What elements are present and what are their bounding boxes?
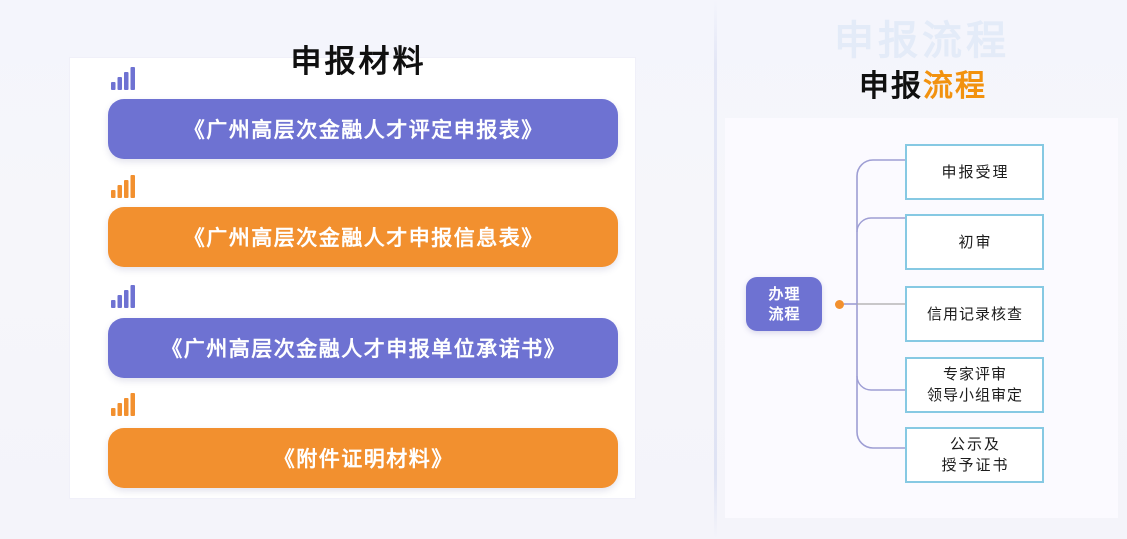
document-pill[interactable]: 《附件证明材料》 bbox=[108, 428, 618, 488]
page-title-materials: 申报材料 bbox=[0, 36, 714, 81]
process-step-label: 申报受理 bbox=[939, 162, 1009, 183]
process-step-label: 初审 bbox=[956, 232, 992, 253]
bar-chart-icon bbox=[110, 174, 136, 198]
application-process-panel: 申报流程 申报流程 办理 流程 申报受理 初审 信用记录核查 bbox=[717, 0, 1127, 539]
document-pill[interactable]: 《广州高层次金融人才评定申报表》 bbox=[108, 99, 618, 159]
process-step-box[interactable]: 公示及 授予证书 bbox=[905, 427, 1044, 483]
process-step-label-line-1: 专家评审 bbox=[942, 364, 1007, 385]
process-step-box[interactable]: 专家评审 领导小组审定 bbox=[905, 357, 1044, 413]
application-materials-panel: 申报材料 《广州高层次金融人才评定申报表》 《广州高层次金融人才申报信息表》 bbox=[0, 0, 714, 539]
process-step-box[interactable]: 初审 bbox=[905, 214, 1044, 270]
process-step-label-line-1: 公示及 bbox=[948, 434, 1001, 455]
document-pill[interactable]: 《广州高层次金融人才申报信息表》 bbox=[108, 207, 618, 267]
document-pill[interactable]: 《广州高层次金融人才申报单位承诺书》 bbox=[108, 318, 618, 378]
process-root-line-2: 流程 bbox=[767, 304, 800, 324]
process-step-label-line-2: 领导小组审定 bbox=[926, 385, 1023, 406]
process-step-box[interactable]: 信用记录核查 bbox=[905, 286, 1044, 342]
process-step-label-line-2: 授予证书 bbox=[939, 455, 1009, 476]
bar-chart-icon bbox=[110, 66, 136, 90]
bar-chart-icon bbox=[110, 284, 136, 308]
process-step-box[interactable]: 申报受理 bbox=[905, 144, 1044, 200]
process-step-label: 信用记录核查 bbox=[926, 304, 1023, 325]
bar-chart-icon bbox=[110, 392, 136, 416]
process-root-node[interactable]: 办理 流程 bbox=[746, 277, 822, 331]
hub-dot-icon bbox=[835, 300, 844, 309]
infographic-root: 申报材料 《广州高层次金融人才评定申报表》 《广州高层次金融人才申报信息表》 bbox=[0, 0, 1127, 539]
process-root-line-1: 办理 bbox=[767, 284, 800, 304]
